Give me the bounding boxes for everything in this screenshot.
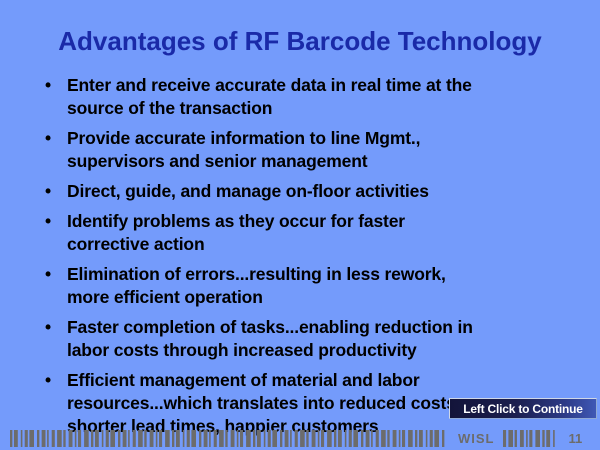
presentation-slide: Advantages of RF Barcode Technology • En… (0, 0, 600, 450)
barcode-decoration-left (10, 430, 450, 447)
slide-footer: WISL 11 (0, 426, 600, 450)
bullet-dot-icon: • (45, 263, 51, 286)
continue-button-label: Left Click to Continue (463, 403, 583, 415)
page-number: 11 (569, 432, 583, 445)
list-item-text: Direct, guide, and manage on-floor activ… (67, 180, 570, 203)
list-item: • Direct, guide, and manage on-floor act… (40, 180, 570, 203)
page-title: Advantages of RF Barcode Technology (0, 26, 600, 56)
list-item: • Elimination of errors...resulting in l… (40, 263, 570, 309)
list-item-text: Enter and receive accurate data in real … (67, 74, 570, 120)
organization-label: WISL (458, 432, 495, 445)
list-item-text: Elimination of errors...resulting in les… (67, 263, 570, 309)
bullet-dot-icon: • (45, 74, 51, 97)
list-item: • Provide accurate information to line M… (40, 127, 570, 173)
bullet-dot-icon: • (45, 127, 51, 150)
bullet-list: • Enter and receive accurate data in rea… (40, 74, 570, 445)
list-item-text: Faster completion of tasks...enabling re… (67, 316, 570, 362)
list-item: • Faster completion of tasks...enabling … (40, 316, 570, 362)
bullet-dot-icon: • (45, 210, 51, 233)
list-item: • Identify problems as they occur for fa… (40, 210, 570, 256)
bullet-dot-icon: • (45, 180, 51, 203)
list-item-text: Identify problems as they occur for fast… (67, 210, 570, 256)
bullet-dot-icon: • (45, 316, 51, 339)
barcode-decoration-right (503, 430, 560, 447)
list-item: • Enter and receive accurate data in rea… (40, 74, 570, 120)
bullet-dot-icon: • (45, 369, 51, 392)
list-item-text: Provide accurate information to line Mgm… (67, 127, 570, 173)
left-click-to-continue-button[interactable]: Left Click to Continue (449, 398, 597, 419)
